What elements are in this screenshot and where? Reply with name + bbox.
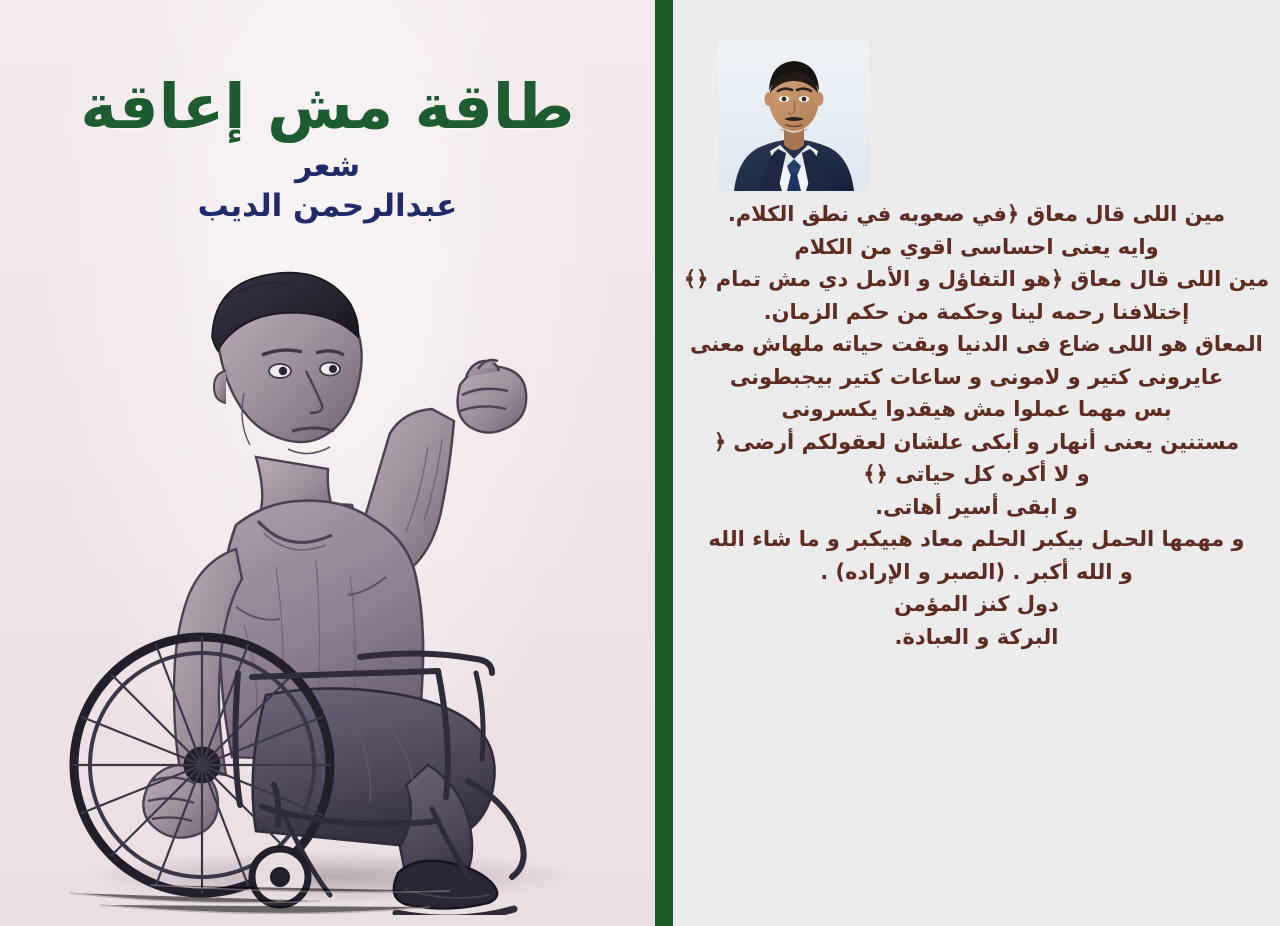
- poem-line: بس مهما عملوا مش هيقدوا يكسرونى: [681, 393, 1272, 426]
- poem-line: و ابقى أسير أهاتى.: [681, 491, 1272, 524]
- right-panel: مين اللى قال معاق ﴿في صعوبه في نطق الكلا…: [673, 0, 1280, 926]
- poem-line: إختلافنا رحمه لينا وحكمة من حكم الزمان.: [681, 296, 1272, 329]
- byline-author-name: عبدالرحمن الديب: [0, 188, 655, 224]
- wheelchair-man-illustration: [30, 225, 630, 915]
- poem-line: و الله أكبر . (الصبر و الإراده) .: [681, 556, 1272, 589]
- poem-line: و مهمها الحمل بيكبر الحلم معاد هبيكبر و …: [681, 523, 1272, 556]
- left-panel: طاقة مش إعاقة شعر عبدالرحمن الديب: [0, 0, 655, 926]
- poem-line: المعاق هو اللى ضاع فى الدنيا وبقت حياته …: [681, 328, 1272, 361]
- author-portrait-photo: [718, 41, 870, 191]
- poem-line: عايرونى كتير و لامونى و ساعات كتير بيجبط…: [681, 361, 1272, 394]
- poem-text-block: مين اللى قال معاق ﴿في صعوبه في نطق الكلا…: [681, 198, 1272, 653]
- poem-line: مين اللى قال معاق ﴿في صعوبه في نطق الكلا…: [681, 198, 1272, 231]
- poem-line: و لا أكره كل حياتى ﴿﴾: [681, 458, 1272, 491]
- poem-line: البركة و العبادة.: [681, 621, 1272, 654]
- poem-line: وايه يعنى احساسى اقوي من الكلام: [681, 231, 1272, 264]
- poem-line: مين اللى قال معاق ﴿هو التفاؤل و الأمل دي…: [681, 263, 1272, 296]
- title-block: طاقة مش إعاقة شعر عبدالرحمن الديب: [0, 74, 655, 224]
- poem-line: دول كنز المؤمن: [681, 588, 1272, 621]
- vertical-divider: [655, 0, 673, 926]
- byline-label: شعر: [0, 149, 655, 184]
- poster-root: طاقة مش إعاقة شعر عبدالرحمن الديب: [0, 0, 1280, 926]
- page-title: طاقة مش إعاقة: [0, 74, 655, 141]
- poem-line: مستنين يعنى أنهار و أبكى علشان لعقولكم أ…: [681, 426, 1272, 459]
